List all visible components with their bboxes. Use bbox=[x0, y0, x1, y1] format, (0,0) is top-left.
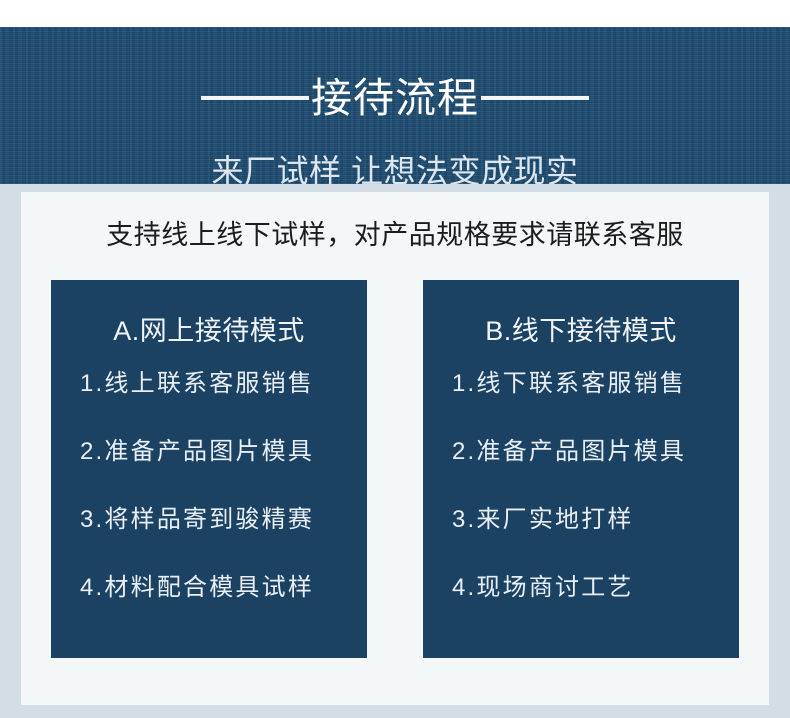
card-list-online: 1.线上联系客服销售 2.准备产品图片模具 3.将样品寄到骏精赛 4.材料配合模… bbox=[80, 368, 350, 603]
header-banner: 接待流程 来厂试样 让想法变成现实 bbox=[0, 27, 790, 184]
banner-title-row: 接待流程 bbox=[0, 71, 790, 125]
title-rule-left bbox=[201, 96, 309, 100]
title-rule-right bbox=[481, 96, 589, 100]
card-grid: A.网上接待模式 1.线上联系客服销售 2.准备产品图片模具 3.将样品寄到骏精… bbox=[51, 280, 739, 658]
list-item: 2.准备产品图片模具 bbox=[80, 436, 350, 467]
card-online-mode: A.网上接待模式 1.线上联系客服销售 2.准备产品图片模具 3.将样品寄到骏精… bbox=[51, 280, 367, 658]
card-list-offline: 1.线下联系客服销售 2.准备产品图片模具 3.来厂实地打样 4.现场商讨工艺 bbox=[452, 368, 722, 603]
list-item: 3.将样品寄到骏精赛 bbox=[80, 504, 350, 535]
page-title: 接待流程 bbox=[309, 72, 481, 124]
banner-content: 接待流程 来厂试样 让想法变成现实 bbox=[0, 27, 790, 184]
page-subtitle: 来厂试样 让想法变成现实 bbox=[0, 150, 790, 184]
card-title-online: A.网上接待模式 bbox=[51, 313, 367, 349]
promo-page: 接待流程 来厂试样 让想法变成现实 支持线上线下试样，对产品规格要求请联系客服 … bbox=[0, 0, 790, 718]
list-item: 4.材料配合模具试样 bbox=[80, 572, 350, 603]
card-title-offline: B.线下接待模式 bbox=[423, 313, 739, 349]
list-item: 2.准备产品图片模具 bbox=[452, 436, 722, 467]
list-item: 4.现场商讨工艺 bbox=[452, 572, 722, 603]
list-item: 3.来厂实地打样 bbox=[452, 504, 722, 535]
card-offline-mode: B.线下接待模式 1.线下联系客服销售 2.准备产品图片模具 3.来厂实地打样 … bbox=[423, 280, 739, 658]
content-panel: 支持线上线下试样，对产品规格要求请联系客服 A.网上接待模式 1.线上联系客服销… bbox=[21, 192, 769, 705]
list-item: 1.线上联系客服销售 bbox=[80, 368, 350, 399]
list-item: 1.线下联系客服销售 bbox=[452, 368, 722, 399]
panel-heading: 支持线上线下试样，对产品规格要求请联系客服 bbox=[21, 216, 769, 254]
